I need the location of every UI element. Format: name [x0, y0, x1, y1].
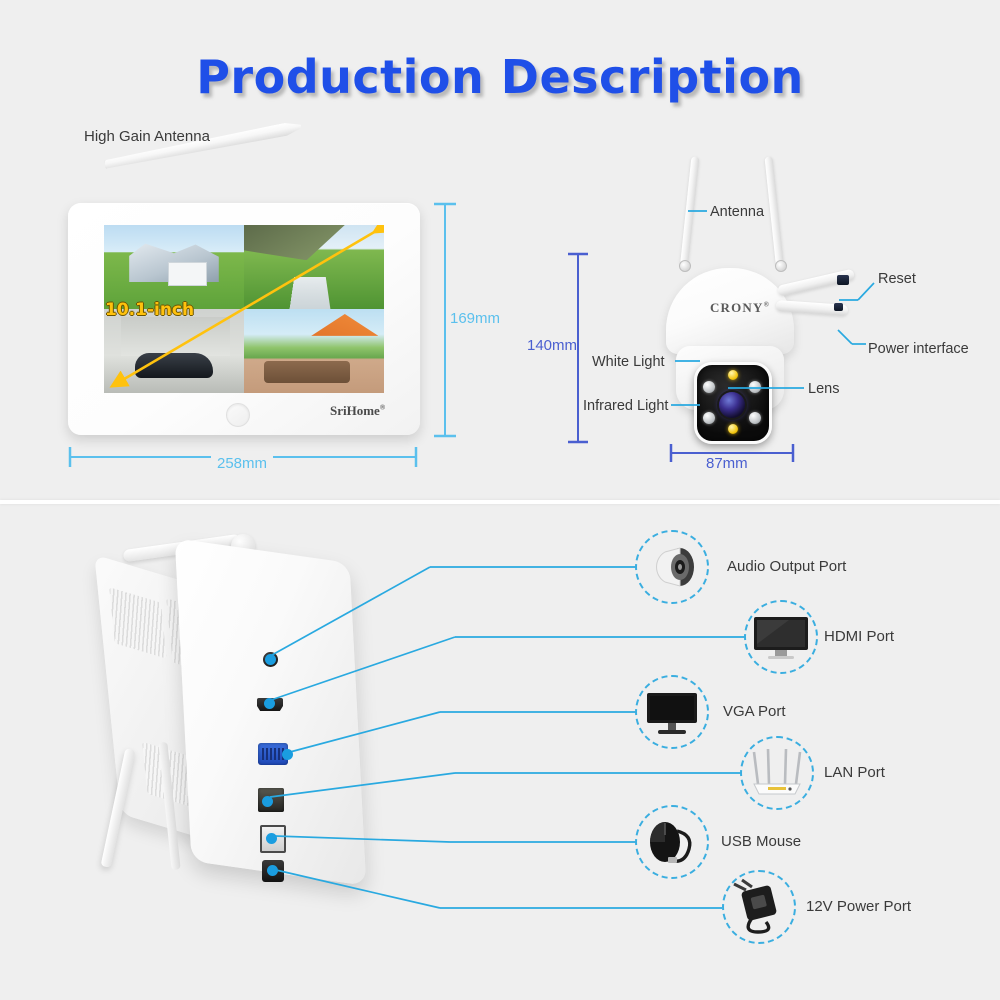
hdmi-port-marker: [264, 698, 275, 709]
lens-label: Lens: [808, 381, 839, 397]
speaker-icon: [635, 530, 709, 604]
camera-height-label: 140mm: [527, 337, 577, 354]
infographic-canvas: Production Description High Gain Antenna: [0, 0, 1000, 1000]
vent-grille-top-left: [109, 587, 166, 658]
power-interface-label: Power interface: [868, 341, 969, 357]
monitor-width-label: 258mm: [211, 455, 273, 472]
infrared-led-top-left: [703, 381, 715, 393]
monitor-rear-device: [105, 530, 405, 925]
power-adapter-icon: [722, 870, 796, 944]
screen-size-label: 10.1-inch: [105, 300, 194, 320]
camera-lens: [719, 392, 745, 418]
hdmi-port-label: HDMI Port: [824, 628, 894, 645]
display-icon: [635, 675, 709, 749]
camera-antenna-right: [765, 156, 784, 266]
router-icon: [740, 736, 814, 810]
srihome-registered-mark: ®: [380, 404, 385, 412]
white-light-led-bottom: [728, 424, 738, 434]
reset-connector-tip: [837, 275, 849, 285]
audio-output-port-label: Audio Output Port: [727, 558, 846, 575]
monitor-icon: [744, 600, 818, 674]
white-light-label: White Light: [592, 354, 665, 370]
power-port-marker: [267, 865, 278, 876]
page-title: Production Description: [0, 50, 1000, 104]
audio-port-marker: [265, 654, 276, 665]
infrared-led-bottom-left: [703, 412, 715, 424]
crony-brand-logo: CRONY®: [610, 300, 870, 316]
lan-port-label: LAN Port: [824, 764, 885, 781]
vga-port-marker: [282, 749, 293, 760]
mouse-icon: [635, 805, 709, 879]
reset-label: Reset: [878, 271, 916, 287]
white-light-led-top: [728, 370, 738, 380]
monitor-home-button[interactable]: [226, 403, 250, 427]
usb-mouse-label: USB Mouse: [721, 833, 801, 850]
srihome-brand-logo: SriHome®: [330, 403, 385, 419]
power-port-label: 12V Power Port: [806, 898, 911, 915]
infrared-led-top-right: [749, 381, 761, 393]
usb-port-marker: [266, 833, 277, 844]
antenna-hinge-screw-right: [775, 260, 787, 272]
antenna-hinge-screw-left: [679, 260, 691, 272]
camera-feed-tile-3: [104, 309, 244, 393]
camera-antenna-label: Antenna: [710, 204, 764, 220]
srihome-brand-text: SriHome: [330, 403, 380, 418]
camera-width-label: 87mm: [706, 455, 748, 472]
infrared-led-bottom-right: [749, 412, 761, 424]
camera-antenna-left: [680, 156, 699, 266]
crony-brand-text: CRONY: [710, 300, 764, 315]
camera-feed-tile-2: [244, 225, 384, 309]
camera-feed-tile-1: [104, 225, 244, 309]
camera-lens-module: [694, 362, 772, 444]
infrared-light-label: Infrared Light: [583, 398, 668, 414]
lan-port-marker: [262, 796, 273, 807]
high-gain-antenna-label: High Gain Antenna: [84, 128, 210, 145]
vga-port-label: VGA Port: [723, 703, 786, 720]
camera-feed-tile-4: [244, 309, 384, 393]
crony-registered-mark: ®: [764, 301, 770, 309]
section-divider: [0, 500, 1000, 504]
monitor-height-label: 169mm: [450, 310, 500, 327]
